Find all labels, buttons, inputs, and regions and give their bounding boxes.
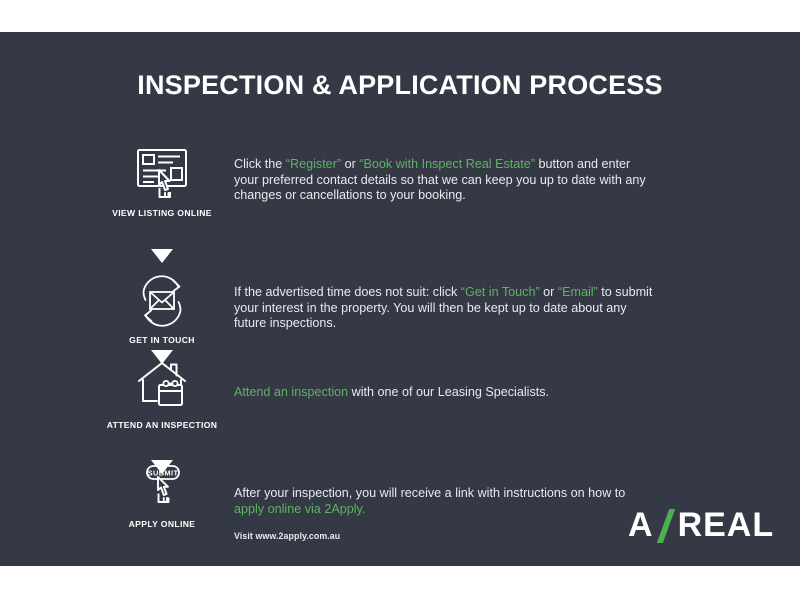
submit-button-click-icon: SUBMIT	[100, 456, 224, 514]
down-triangle-icon	[151, 249, 173, 263]
step-icon-column: GET IN TOUCH	[100, 272, 224, 345]
text-segment: or	[341, 157, 359, 171]
visit-url-note: Visit www.2apply.com.au	[234, 530, 654, 542]
accent-text-segment: “Book with Inspect Real Estate”	[359, 157, 535, 171]
envelope-refresh-icon	[100, 272, 224, 330]
step-icon-column: VIEW LISTING ONLINE	[100, 145, 224, 218]
dark-content-panel: INSPECTION & APPLICATION PROCESS	[0, 32, 800, 566]
accent-text-segment: Attend an inspection	[234, 385, 348, 399]
accent-text-segment: “Email”	[558, 285, 598, 299]
brand-logo: A REAL	[628, 506, 774, 545]
text-segment: If the advertised time does not suit: cl…	[234, 285, 461, 299]
slide-canvas: INSPECTION & APPLICATION PROCESS	[0, 0, 800, 600]
step-icon-column: ATTEND AN INSPECTION	[100, 357, 224, 430]
accent-text-segment: apply online via 2Apply.	[234, 502, 365, 516]
step-label: APPLY ONLINE	[100, 519, 224, 529]
accent-text-segment: “Register”	[286, 157, 341, 171]
text-segment: or	[540, 285, 558, 299]
logo-left-text: A	[628, 506, 654, 545]
logo-slash-icon	[655, 509, 677, 543]
house-calendar-icon	[100, 357, 224, 415]
listing-page-click-icon	[100, 145, 224, 203]
step-icon-column: SUBMIT APPLY ONLINE	[100, 456, 224, 529]
step-label: GET IN TOUCH	[100, 335, 224, 345]
step-description: Click the “Register” or “Book with Inspe…	[234, 157, 654, 204]
process-step-list: VIEW LISTING ONLINE Click the “Register”…	[0, 32, 800, 566]
text-segment: with one of our Leasing Specialists.	[348, 385, 549, 399]
step-label: ATTEND AN INSPECTION	[100, 420, 224, 430]
text-segment: After your inspection, you will receive …	[234, 486, 625, 500]
accent-text-segment: “Get in Touch”	[461, 285, 540, 299]
step-description: After your inspection, you will receive …	[234, 486, 654, 542]
logo-right-text: REAL	[678, 506, 775, 545]
text-segment: Click the	[234, 157, 286, 171]
step-description: If the advertised time does not suit: cl…	[234, 285, 654, 332]
svg-text:SUBMIT: SUBMIT	[148, 468, 179, 477]
step-description: Attend an inspection with one of our Lea…	[234, 385, 654, 401]
step-label: VIEW LISTING ONLINE	[100, 208, 224, 218]
